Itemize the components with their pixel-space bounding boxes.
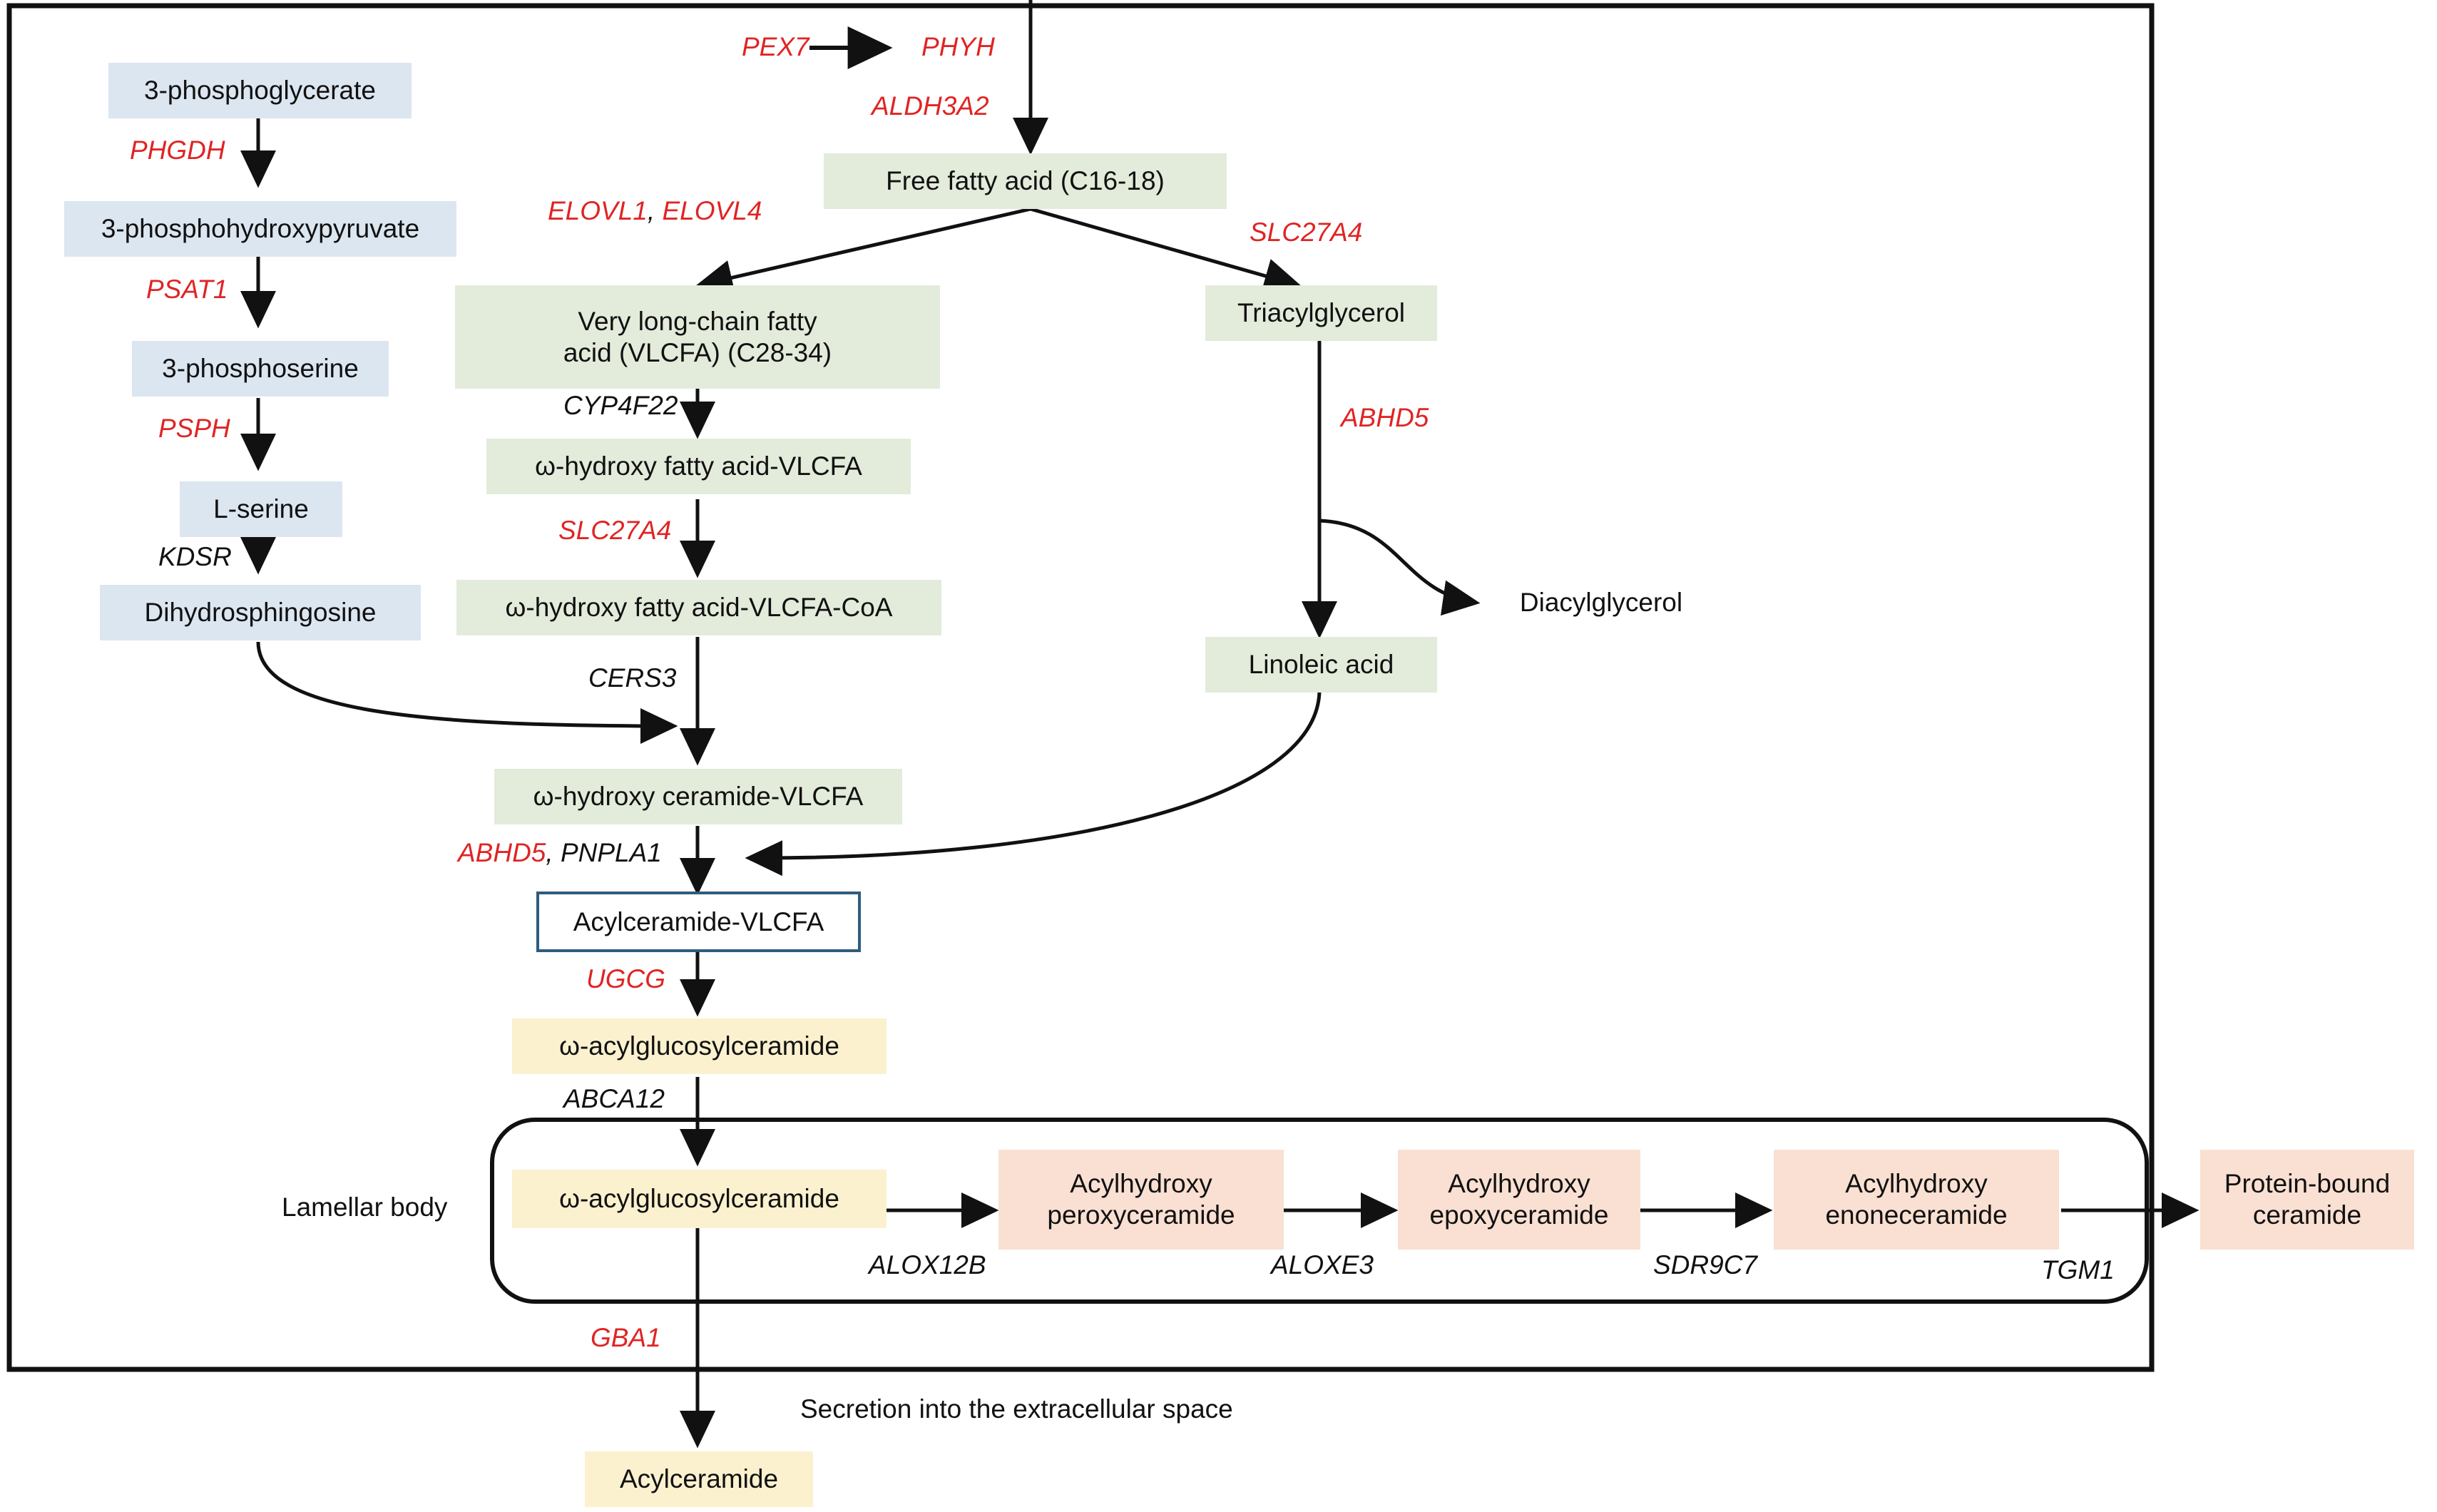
- node-label-line1: Very long-chain fatty: [578, 306, 817, 337]
- node-label-line1: Acylhydroxy: [1845, 1168, 1987, 1200]
- enzyme-abca12: ABCA12: [563, 1084, 665, 1114]
- enzyme-abhd5: ABHD5: [458, 838, 546, 867]
- node-diacylglycerol[interactable]: Diacylglycerol: [1483, 578, 1719, 628]
- enzyme-kdsr: KDSR: [158, 542, 232, 572]
- enzyme-separator: ,: [546, 838, 561, 867]
- enzyme-ugcg: UGCG: [586, 964, 665, 994]
- node-label: 3-phosphohydroxypyruvate: [101, 213, 419, 245]
- enzyme-slc27a4-vlcfa: SLC27A4: [558, 516, 671, 546]
- node-protein-bound-ceramide[interactable]: Protein-bound ceramide: [2200, 1150, 2414, 1250]
- enzyme-slc27a4-triacylglycerol: SLC27A4: [1250, 218, 1362, 247]
- node-label: ω-hydroxy fatty acid-VLCFA: [535, 451, 862, 482]
- node-label: ω-acylglucosylceramide: [559, 1183, 839, 1215]
- enzyme-alox12b: ALOX12B: [869, 1250, 986, 1280]
- node-label-line1: Protein-bound: [2224, 1168, 2390, 1200]
- enzyme-abhd5-triacylglycerol: ABHD5: [1341, 403, 1429, 433]
- node-acylhydroxy-peroxyceramide[interactable]: Acylhydroxy peroxyceramide: [998, 1150, 1284, 1250]
- node-label-line1: Acylhydroxy: [1070, 1168, 1212, 1200]
- node-label: ω-hydroxy ceramide-VLCFA: [533, 781, 864, 812]
- node-label-line2: epoxyceramide: [1430, 1200, 1609, 1231]
- node-omega-hydroxy-ceramide-vlcfa[interactable]: ω-hydroxy ceramide-VLCFA: [494, 769, 902, 824]
- node-label-line1: Acylhydroxy: [1448, 1168, 1590, 1200]
- node-label-line2: enoneceramide: [1825, 1200, 2007, 1231]
- enzyme-psat1: PSAT1: [146, 275, 228, 305]
- enzyme-elovl1: ELOVL1: [548, 196, 648, 225]
- node-label: ω-acylglucosylceramide: [559, 1031, 839, 1062]
- node-label-line2: ceramide: [2253, 1200, 2361, 1231]
- node-3-phosphohydroxypyruvate[interactable]: 3-phosphohydroxypyruvate: [64, 201, 456, 257]
- enzyme-pex7: PEX7: [742, 32, 809, 62]
- enzyme-sdr9c7: SDR9C7: [1653, 1250, 1757, 1280]
- node-triacylglycerol[interactable]: Triacylglycerol: [1205, 285, 1437, 341]
- node-label: Dihydrosphingosine: [145, 597, 377, 628]
- node-linoleic-acid[interactable]: Linoleic acid: [1205, 637, 1437, 693]
- node-dihydrosphingosine[interactable]: Dihydrosphingosine: [100, 585, 421, 640]
- node-label: Diacylglycerol: [1520, 587, 1682, 618]
- node-label: ω-hydroxy fatty acid-VLCFA-CoA: [506, 592, 893, 623]
- enzyme-tgm1: TGM1: [2041, 1255, 2115, 1285]
- node-label: Acylceramide-VLCFA: [573, 906, 824, 938]
- node-label: Triacylglycerol: [1237, 297, 1405, 329]
- node-label: Linoleic acid: [1249, 649, 1394, 680]
- node-label-line2: acid (VLCFA) (C28-34): [563, 337, 832, 369]
- node-3-phosphoglycerate[interactable]: 3-phosphoglycerate: [108, 63, 412, 118]
- node-acylceramide-vlcfa[interactable]: Acylceramide-VLCFA: [536, 892, 861, 952]
- arrow-triacylglycerol-to-diacylglycerol: [1319, 521, 1476, 603]
- node-omega-hydroxy-fatty-acid-vlcfa[interactable]: ω-hydroxy fatty acid-VLCFA: [486, 439, 911, 494]
- enzyme-psph: PSPH: [158, 414, 230, 444]
- node-vlcfa[interactable]: Very long-chain fatty acid (VLCFA) (C28-…: [455, 285, 940, 389]
- node-omega-hydroxy-fatty-acid-vlcfa-coa[interactable]: ω-hydroxy fatty acid-VLCFA-CoA: [456, 580, 941, 635]
- node-acylhydroxy-enoneceramide[interactable]: Acylhydroxy enoneceramide: [1774, 1150, 2059, 1250]
- node-acylhydroxy-epoxyceramide[interactable]: Acylhydroxy epoxyceramide: [1398, 1150, 1640, 1250]
- enzyme-aloxe3: ALOXE3: [1271, 1250, 1374, 1280]
- pathway-diagram: 3-phosphoglycerate 3-phosphohydroxypyruv…: [0, 0, 2437, 1512]
- enzyme-aldh3a2: ALDH3A2: [872, 91, 989, 121]
- node-label: L-serine: [213, 494, 309, 525]
- label-lamellar-body: Lamellar body: [282, 1192, 447, 1222]
- enzyme-elovl1-elovl4: ELOVL1, ELOVL4: [548, 196, 762, 226]
- node-free-fatty-acid[interactable]: Free fatty acid (C16-18): [824, 153, 1227, 209]
- node-label: 3-phosphoglycerate: [144, 75, 376, 106]
- enzyme-phyh: PHYH: [921, 32, 995, 62]
- node-omega-acylglucosylceramide[interactable]: ω-acylglucosylceramide: [512, 1018, 887, 1074]
- node-3-phosphoserine[interactable]: 3-phosphoserine: [132, 341, 389, 397]
- enzyme-separator: ,: [648, 196, 663, 225]
- enzyme-cers3: CERS3: [588, 663, 676, 693]
- enzyme-pnpla1: PNPLA1: [561, 838, 662, 867]
- node-omega-acylglucosylceramide-lamellar[interactable]: ω-acylglucosylceramide: [512, 1170, 887, 1228]
- label-secretion: Secretion into the extracellular space: [800, 1394, 1233, 1424]
- node-acylceramide-secreted[interactable]: Acylceramide: [585, 1451, 813, 1507]
- enzyme-phgdh: PHGDH: [130, 136, 225, 165]
- node-label: Free fatty acid (C16-18): [886, 165, 1165, 197]
- enzyme-abhd5-pnpla1: ABHD5, PNPLA1: [458, 838, 662, 868]
- node-label: 3-phosphoserine: [162, 353, 359, 384]
- enzyme-gba1: GBA1: [591, 1323, 661, 1353]
- enzyme-elovl4: ELOVL4: [662, 196, 762, 225]
- node-label: Acylceramide: [620, 1464, 778, 1495]
- node-l-serine[interactable]: L-serine: [180, 481, 342, 537]
- node-label-line2: peroxyceramide: [1047, 1200, 1235, 1231]
- enzyme-cyp4f22: CYP4F22: [563, 391, 678, 421]
